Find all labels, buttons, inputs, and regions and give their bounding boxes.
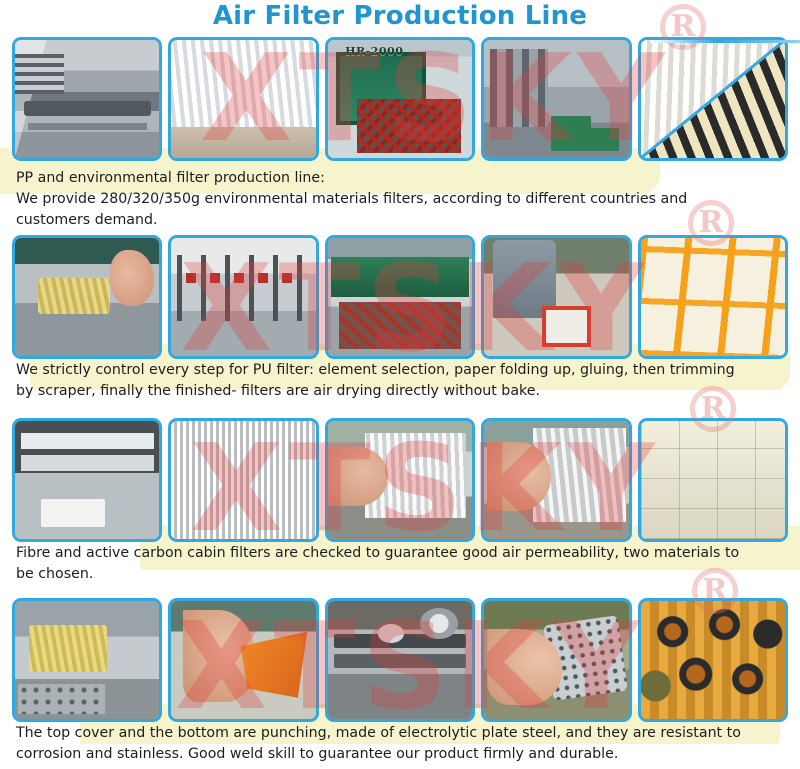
photo-row-top-cover-bottom bbox=[12, 598, 788, 722]
photo-hands-perforated-mesh-image bbox=[484, 601, 628, 719]
caption-line: PP and environmental filter production l… bbox=[16, 168, 788, 189]
photo-hands-orange-sheet[interactable] bbox=[168, 598, 318, 722]
photo-row-pu-filter bbox=[12, 235, 788, 359]
photo-orange-cylinder-filters-image bbox=[641, 601, 785, 719]
title-underline-rule bbox=[650, 40, 800, 43]
machine-model-label: HR-2000 bbox=[345, 45, 403, 58]
photo-stacked-filter-blocks-image bbox=[641, 421, 785, 539]
photo-cutting-machine-image bbox=[15, 40, 159, 158]
photo-row-cabin-filter bbox=[12, 418, 788, 542]
photo-press-machine[interactable] bbox=[12, 418, 162, 542]
photo-hand-yellow-roll-image bbox=[15, 238, 159, 356]
photo-hands-checking-panel[interactable] bbox=[325, 418, 475, 542]
photo-clamp-jigs[interactable] bbox=[168, 235, 318, 359]
air-filter-production-line-page: XTSKY XTSKY XTSKY XTSKY R R R R Air Filt… bbox=[0, 0, 800, 769]
caption-line: by scraper, finally the finished- filter… bbox=[16, 381, 788, 402]
caption-top-cover-bottom: The top cover and the bottom are punchin… bbox=[16, 723, 788, 765]
photo-punching-machine[interactable] bbox=[12, 598, 162, 722]
caption-line: We provide 280/320/350g environmental ma… bbox=[16, 189, 788, 210]
photo-factory-interior-image bbox=[484, 40, 628, 158]
photo-hands-orange-sheet-image bbox=[171, 601, 315, 719]
photo-punching-machine-image bbox=[15, 601, 159, 719]
caption-line: corrosion and stainless. Good weld skill… bbox=[16, 744, 788, 765]
diagonal-divider-line bbox=[641, 40, 785, 158]
caption-line: customers demand. bbox=[16, 210, 788, 231]
photo-clamp-jigs-image bbox=[171, 238, 315, 356]
photo-lathe-metal-bars[interactable] bbox=[325, 598, 475, 722]
page-header: Air Filter Production Line bbox=[0, 0, 800, 36]
photo-row-pp-environmental: HR-2000 bbox=[12, 37, 788, 161]
caption-line: be chosen. bbox=[16, 564, 788, 585]
photo-grey-pleated-cabin-filter[interactable] bbox=[168, 418, 318, 542]
photo-cutting-machine[interactable] bbox=[12, 37, 162, 161]
photo-hr2000-machine[interactable]: HR-2000 bbox=[325, 37, 475, 161]
photo-lathe-metal-bars-image bbox=[328, 601, 472, 719]
photo-orange-cylinder-filters[interactable] bbox=[638, 598, 788, 722]
caption-line: Fibre and active carbon cabin filters ar… bbox=[16, 543, 788, 564]
photo-orange-framed-filters-image bbox=[641, 238, 785, 356]
photo-white-pleated-stack[interactable] bbox=[168, 37, 318, 161]
photo-stacked-filter-blocks[interactable] bbox=[638, 418, 788, 542]
photo-gluing-line-image bbox=[328, 238, 472, 356]
photo-press-machine-image bbox=[15, 421, 159, 539]
caption-pu-filter: We strictly control every step for PU fi… bbox=[16, 360, 788, 402]
photo-orange-framed-filters[interactable] bbox=[638, 235, 788, 359]
photo-worker-red-frame[interactable] bbox=[481, 235, 631, 359]
photo-split-panel-filters[interactable] bbox=[638, 37, 788, 161]
photo-hands-perforated-mesh[interactable] bbox=[481, 598, 631, 722]
caption-pp-environmental: PP and environmental filter production l… bbox=[16, 168, 788, 231]
photo-hands-trimming-blade-image bbox=[484, 421, 628, 539]
photo-gluing-line[interactable] bbox=[325, 235, 475, 359]
photo-worker-red-frame-image bbox=[484, 238, 628, 356]
caption-line: The top cover and the bottom are punchin… bbox=[16, 723, 788, 744]
page-title: Air Filter Production Line bbox=[0, 1, 800, 31]
photo-factory-interior[interactable] bbox=[481, 37, 631, 161]
photo-hands-checking-panel-image bbox=[328, 421, 472, 539]
photo-white-pleated-stack-image bbox=[171, 40, 315, 158]
caption-line: We strictly control every step for PU fi… bbox=[16, 360, 788, 381]
photo-hand-yellow-roll[interactable] bbox=[12, 235, 162, 359]
photo-grey-pleated-cabin-filter-image bbox=[171, 421, 315, 539]
photo-hands-trimming-blade[interactable] bbox=[481, 418, 631, 542]
caption-cabin-filter: Fibre and active carbon cabin filters ar… bbox=[16, 543, 788, 585]
